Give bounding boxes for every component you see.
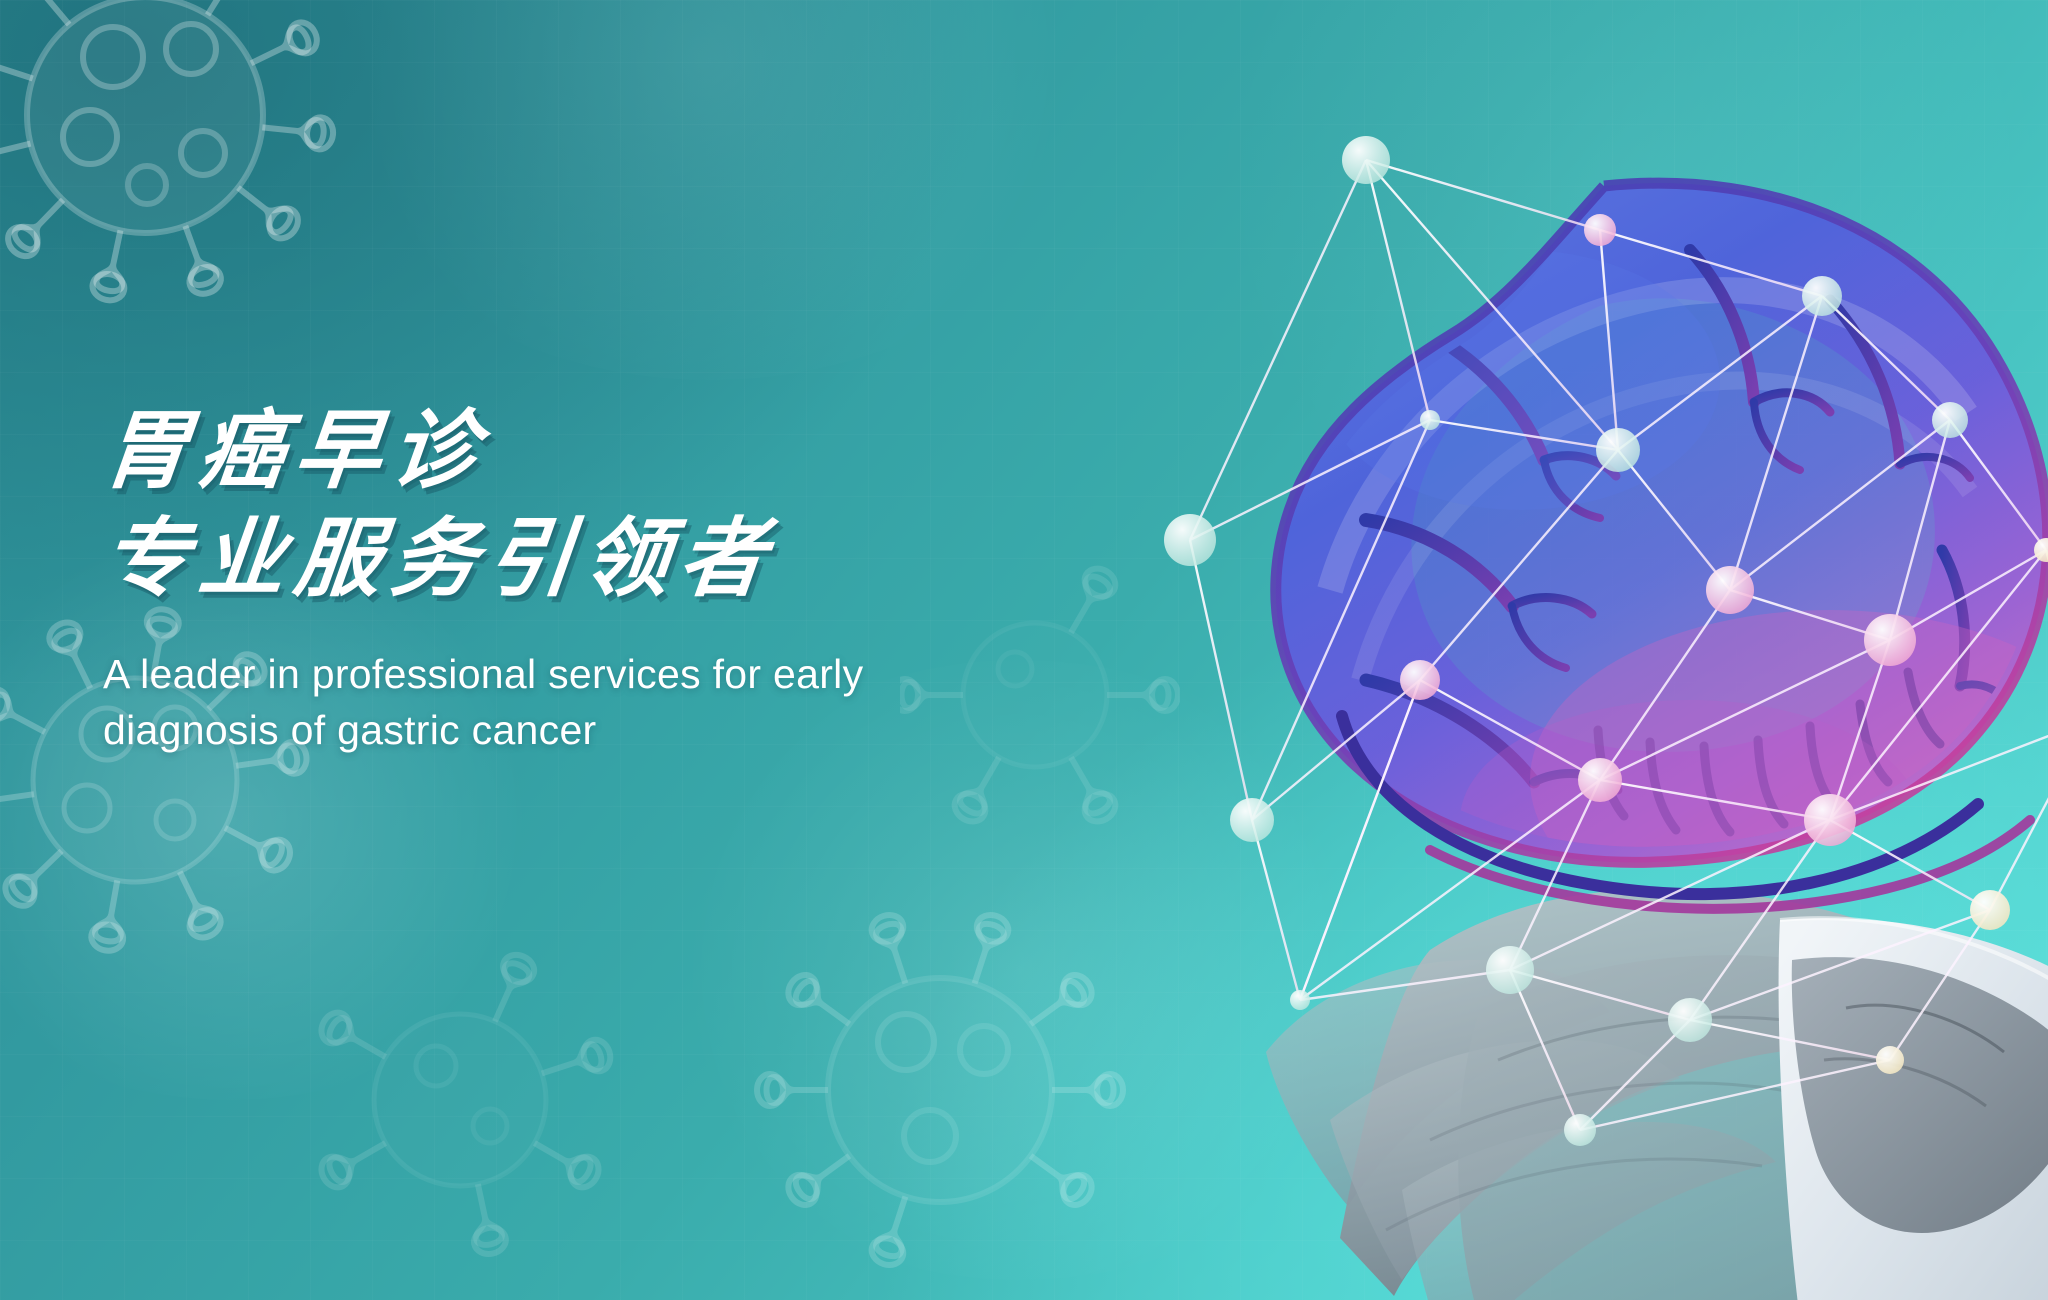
stomach-illustration bbox=[1130, 120, 2048, 1300]
virus-watermark-icon bbox=[300, 940, 630, 1270]
subtitle-line-2: diagnosis of gastric cancer bbox=[103, 703, 1143, 759]
headline-line-1: 胃癌早诊 bbox=[98, 408, 1147, 496]
subtitle-block: A leader in professional services for ea… bbox=[103, 647, 1143, 759]
virus-watermark-icon bbox=[740, 900, 1160, 1300]
subtitle-line-1: A leader in professional services for ea… bbox=[103, 647, 1143, 703]
headline-line-2: 专业服务引领者 bbox=[98, 516, 1147, 604]
virus-watermark-icon bbox=[0, 0, 400, 350]
background-bloom bbox=[300, 0, 1120, 380]
stomach-body bbox=[1276, 183, 2048, 950]
hero-banner: 胃癌早诊 专业服务引领者 A leader in professional se… bbox=[0, 0, 2048, 1300]
hero-copy-block: 胃癌早诊 专业服务引领者 A leader in professional se… bbox=[103, 408, 1143, 759]
